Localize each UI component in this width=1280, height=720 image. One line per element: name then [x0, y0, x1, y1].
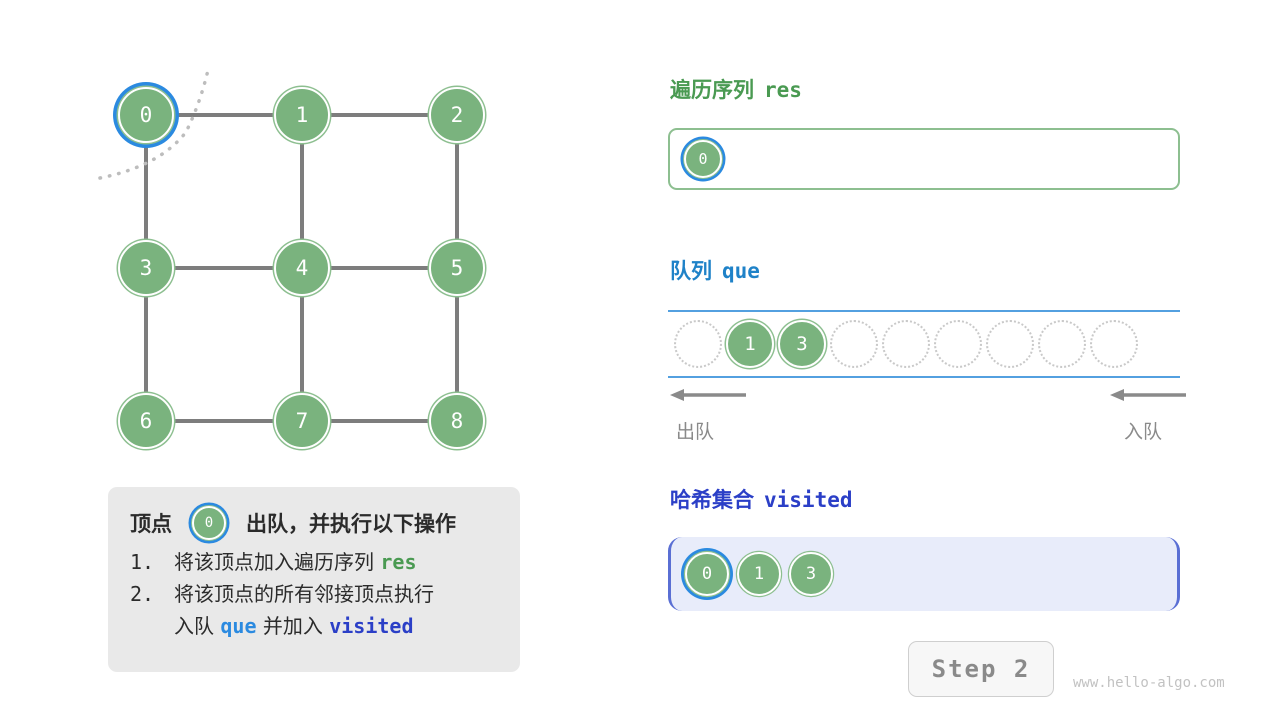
visited-title-cn: 哈希集合	[670, 488, 754, 512]
graph-node-6: 6	[118, 393, 174, 449]
visited-item: 3	[789, 552, 833, 596]
caption-text-part: 入队	[174, 614, 220, 638]
watermark: www.hello-algo.com	[1073, 675, 1225, 691]
queue-slot-empty	[830, 320, 878, 368]
caption-item: 2.将该顶点的所有邻接顶点执行	[130, 580, 502, 609]
caption-item-number: 2.	[130, 580, 174, 609]
caption-text-part: 将该顶点的所有邻接顶点执行	[174, 582, 434, 606]
caption-text-part: 并加入	[256, 614, 329, 638]
caption-text-part: res	[380, 550, 416, 574]
graph-node-2: 2	[429, 87, 485, 143]
caption-text-part: que	[220, 614, 256, 638]
graph-node-3: 3	[118, 240, 174, 296]
graph-node-0: 0	[118, 87, 174, 143]
visited-title-code: visited	[764, 488, 853, 512]
enqueue-label: 入队	[1124, 417, 1162, 444]
caption-prefix: 顶点	[130, 508, 172, 538]
step-badge: Step 2	[908, 641, 1054, 697]
caption-item: 1.将该顶点加入遍历序列 res	[130, 548, 502, 577]
visited-container: 013	[668, 537, 1180, 611]
caption-item-text: 将该顶点加入遍历序列 res	[174, 548, 416, 577]
caption-item-number	[130, 612, 174, 641]
graph-node-1: 1	[274, 87, 330, 143]
queue-slot-empty	[674, 320, 722, 368]
graph-node-8: 8	[429, 393, 485, 449]
caption-text-part: 将该顶点加入遍历序列	[174, 550, 380, 574]
queue-slot-empty	[1038, 320, 1086, 368]
queue-slot-empty	[986, 320, 1034, 368]
queue-slot-list: 13	[668, 310, 1180, 378]
graph-node-7: 7	[274, 393, 330, 449]
dequeue-label: 出队	[676, 417, 714, 444]
graph-node-5: 5	[429, 240, 485, 296]
caption-suffix: 出队，并执行以下操作	[246, 508, 456, 538]
caption-box: 顶点 0 出队，并执行以下操作 1.将该顶点加入遍历序列 res2.将该顶点的所…	[108, 487, 520, 672]
caption-item-number: 1.	[130, 548, 174, 577]
queue-slot-filled: 1	[726, 320, 774, 368]
res-item: 0	[684, 140, 722, 178]
caption-headline: 顶点 0 出队，并执行以下操作	[130, 501, 502, 545]
enqueue-arrow-icon	[1108, 385, 1188, 405]
illustration-canvas: 012345678 顶点 0 出队，并执行以下操作 1.将该顶点加入遍历序列 r…	[0, 0, 1280, 720]
caption-item-list: 1.将该顶点加入遍历序列 res2.将该顶点的所有邻接顶点执行入队 que 并加…	[130, 548, 502, 641]
queue-slot-empty	[1090, 320, 1138, 368]
queue-slot-filled: 3	[778, 320, 826, 368]
queue-slot-empty	[934, 320, 982, 368]
dequeue-arrow-icon	[668, 385, 748, 405]
res-title-code: res	[764, 78, 802, 102]
res-panel-title: 遍历序列res	[670, 74, 802, 104]
caption-item-text: 将该顶点的所有邻接顶点执行	[174, 580, 434, 609]
graph-node-4: 4	[274, 240, 330, 296]
visited-item: 0	[685, 552, 729, 596]
visited-item: 1	[737, 552, 781, 596]
res-container: 0	[668, 128, 1180, 190]
que-panel-title: 队列que	[670, 255, 760, 285]
que-title-code: que	[722, 259, 760, 283]
caption-item-text: 入队 que 并加入 visited	[174, 612, 414, 641]
queue-slot-empty	[882, 320, 930, 368]
res-title-cn: 遍历序列	[670, 78, 754, 102]
caption-text-part: visited	[329, 614, 413, 638]
visited-panel-title: 哈希集合visited	[670, 484, 853, 514]
queue-container: 13	[668, 310, 1180, 378]
caption-item: 入队 que 并加入 visited	[130, 612, 502, 641]
que-title-cn: 队列	[670, 259, 712, 283]
caption-node-badge: 0	[192, 506, 226, 540]
